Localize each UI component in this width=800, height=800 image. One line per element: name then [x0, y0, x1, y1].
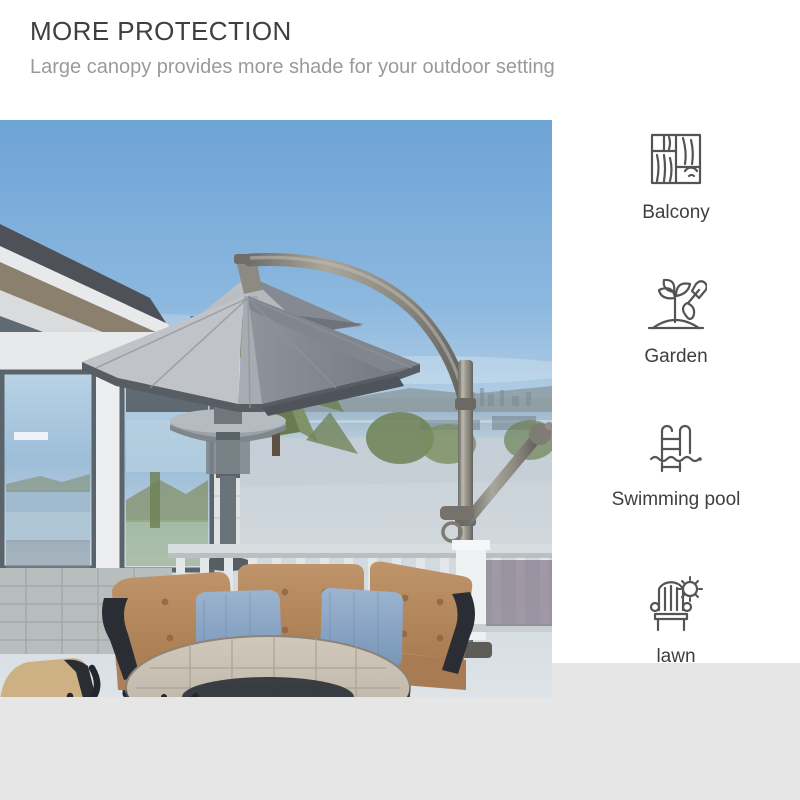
feature-item-garden[interactable]: Garden: [552, 272, 800, 370]
header: MORE PROTECTION Large canopy provides mo…: [30, 14, 770, 82]
feature-label: Balcony: [552, 200, 800, 226]
feature-label: lawn: [552, 644, 800, 670]
page-subtitle: Large canopy provides more shade for you…: [30, 52, 770, 82]
feature-label: Swimming pool: [552, 487, 800, 513]
pool-ladder-icon: [552, 415, 800, 477]
product-feature-panel: MORE PROTECTION Large canopy provides mo…: [0, 0, 800, 800]
wood-deck-icon: [552, 128, 800, 190]
page-title: MORE PROTECTION: [30, 14, 770, 48]
feature-item-swimming-pool[interactable]: Swimming pool: [552, 415, 800, 513]
feature-label: Garden: [552, 344, 800, 370]
product-lifestyle-photo: [0, 120, 552, 697]
feature-item-lawn[interactable]: lawn: [552, 572, 800, 670]
feature-item-balcony[interactable]: Balcony: [552, 128, 800, 226]
lawn-chair-sun-icon: [552, 572, 800, 634]
feature-list: Balcony: [552, 120, 800, 720]
plant-trowel-icon: [552, 272, 800, 334]
